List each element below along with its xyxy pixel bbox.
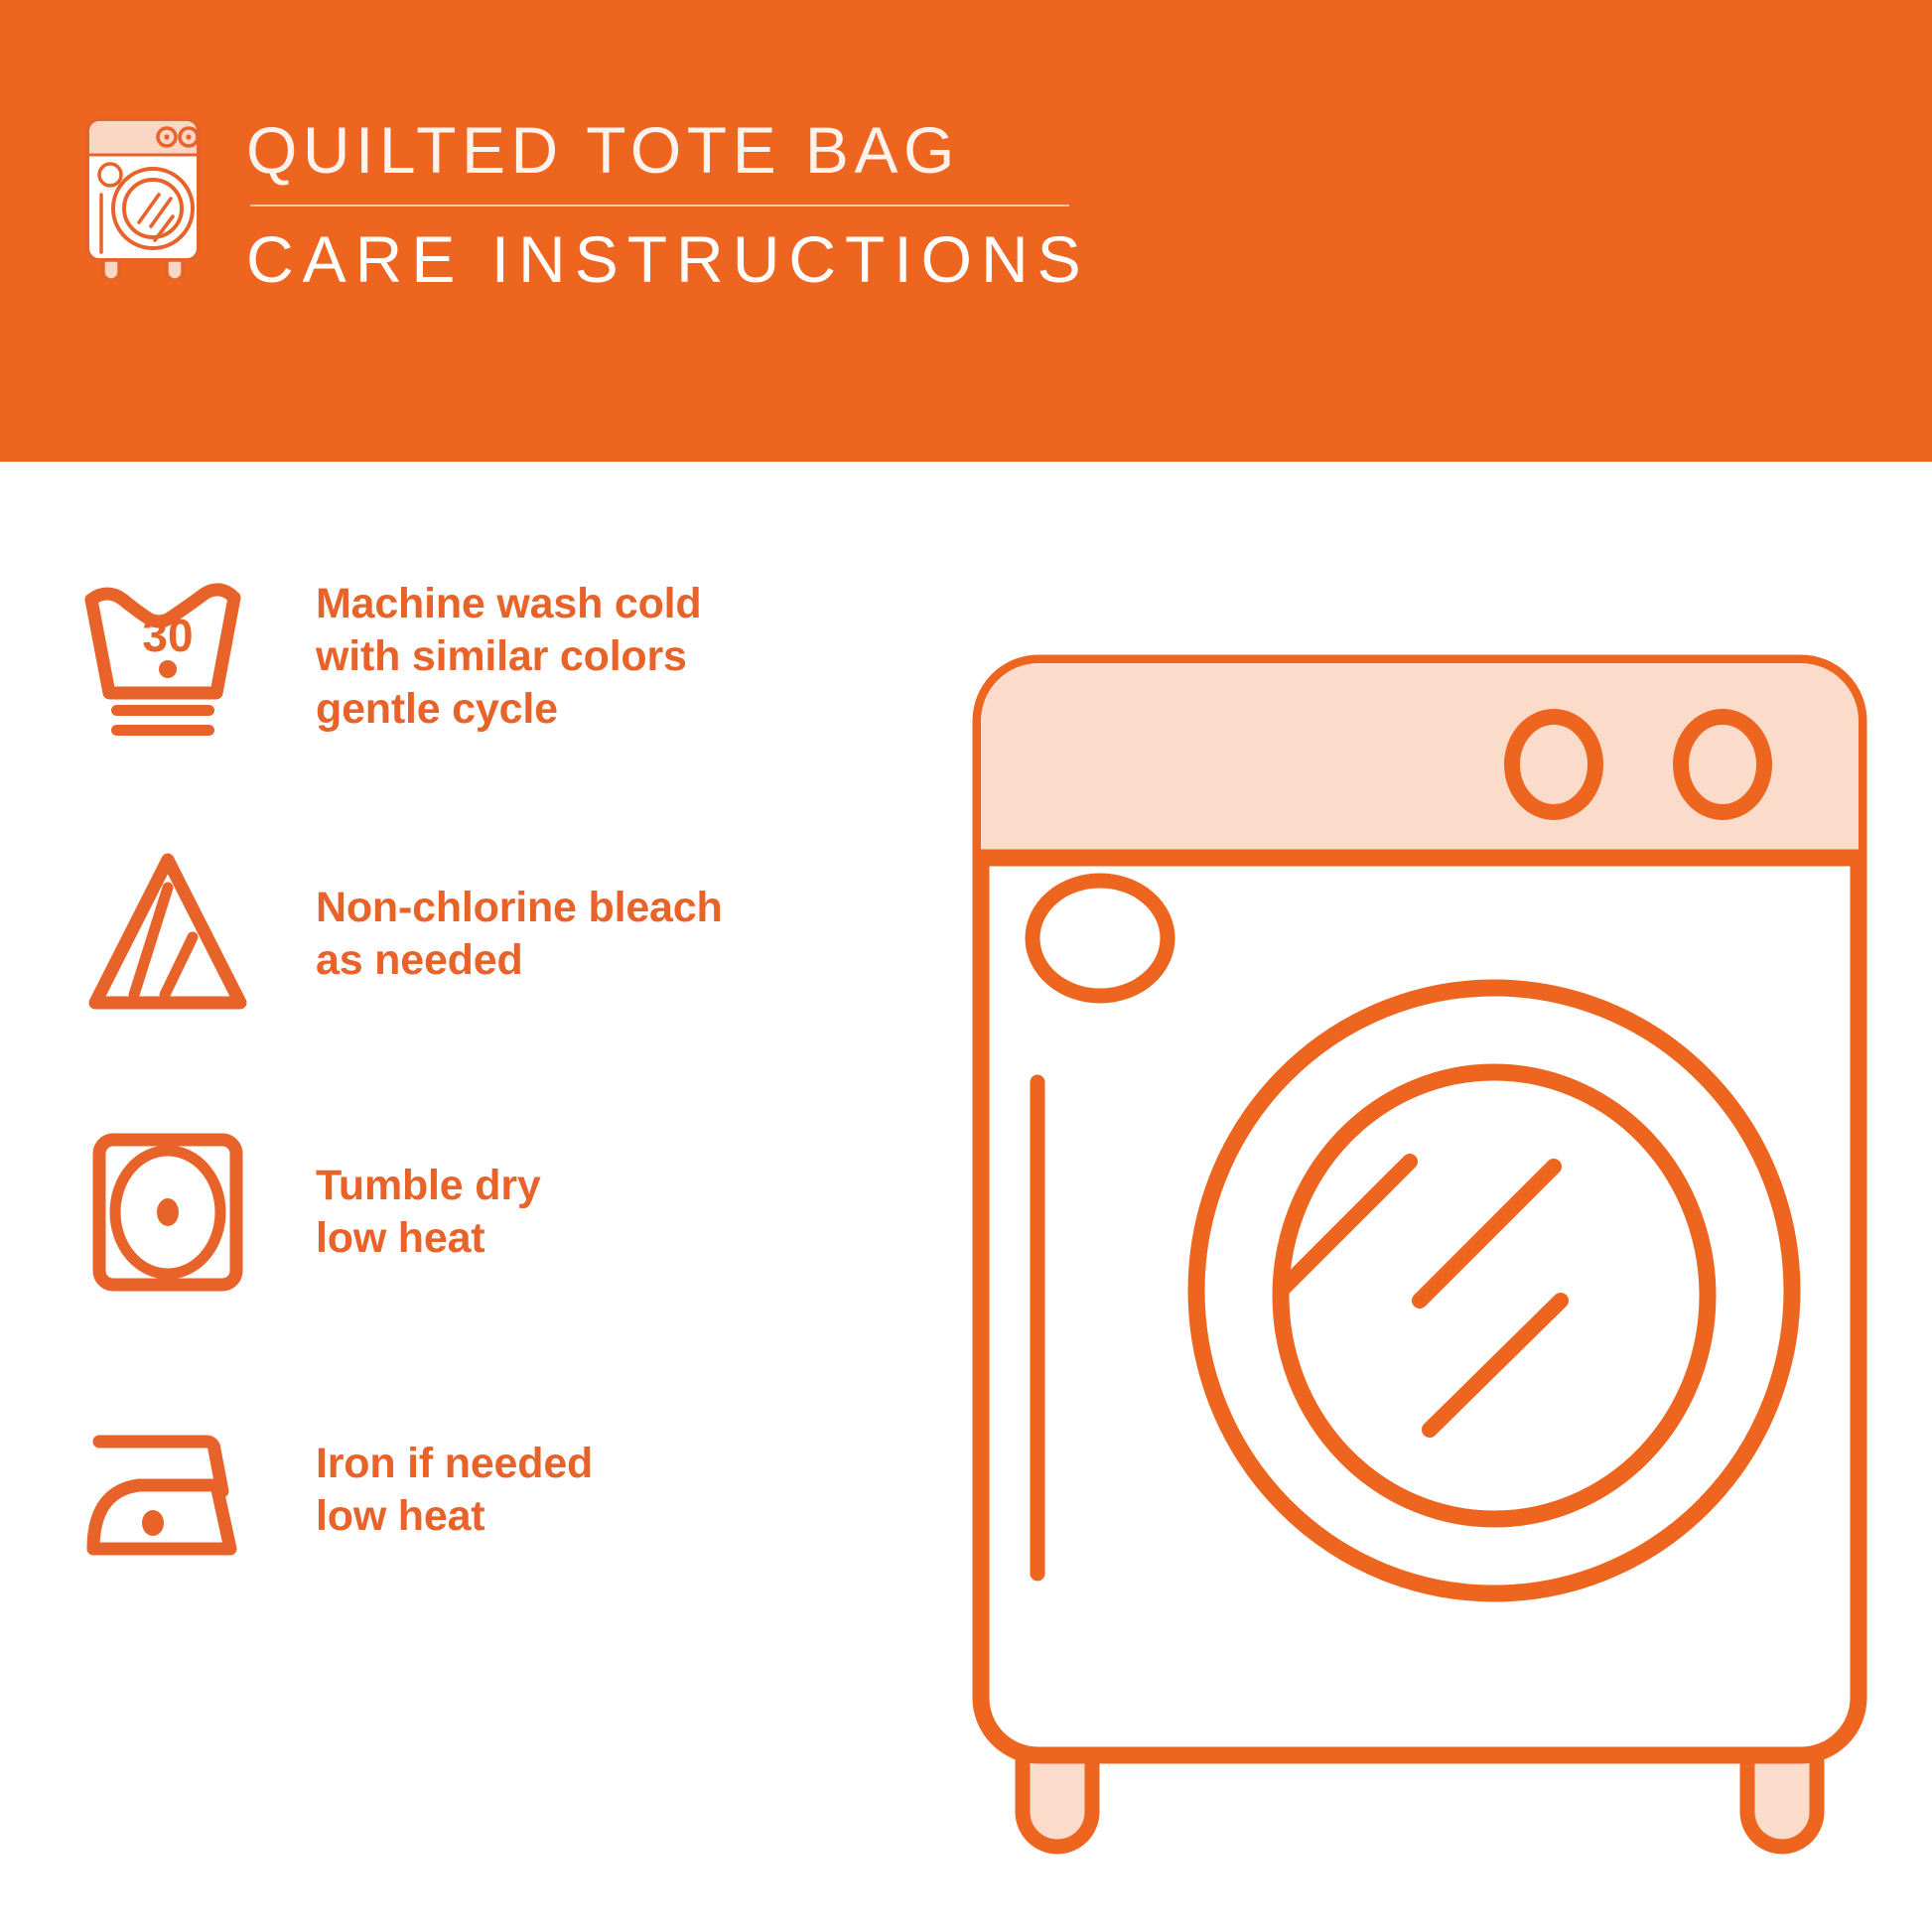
tumble-dry-low-heat-icon — [77, 1122, 258, 1303]
care-line: Iron if needed — [316, 1438, 593, 1490]
page-title: QUILTED TOTE BAG — [246, 111, 1090, 189]
care-item-iron: Iron if needed low heat — [77, 1400, 832, 1581]
care-line: with similar colors — [316, 630, 701, 683]
wash-temperature-label: 30 — [142, 610, 193, 661]
iron-low-heat-icon — [77, 1400, 258, 1581]
care-line: Machine wash cold — [316, 578, 701, 630]
washing-machine-illustration — [953, 616, 1886, 1857]
care-item-label: Machine wash cold with similar colors ge… — [316, 578, 701, 736]
leg-left — [1023, 1752, 1092, 1847]
page-subtitle: CARE INSTRUCTIONS — [246, 220, 1090, 298]
header-title-block: QUILTED TOTE BAG CARE INSTRUCTIONS — [246, 107, 1090, 298]
care-item-bleach: Non-chlorine bleach as needed — [77, 844, 832, 1025]
care-line: Tumble dry — [316, 1160, 541, 1212]
care-item-label: Tumble dry low heat — [316, 1160, 541, 1265]
washing-machine-icon — [77, 107, 208, 282]
care-line: Non-chlorine bleach — [316, 882, 723, 934]
care-line: as needed — [316, 934, 723, 987]
non-chlorine-bleach-triangle-icon — [77, 844, 258, 1025]
leg-right — [1747, 1752, 1817, 1847]
care-line: low heat — [316, 1490, 593, 1543]
care-line: low heat — [316, 1212, 541, 1265]
header-band: QUILTED TOTE BAG CARE INSTRUCTIONS — [0, 0, 1932, 462]
care-item-machine-wash: 30 Machine wash cold with similar colors… — [77, 566, 832, 747]
header-content: QUILTED TOTE BAG CARE INSTRUCTIONS — [77, 107, 1090, 298]
care-item-label: Iron if needed low heat — [316, 1438, 593, 1543]
knob-left — [1512, 717, 1595, 812]
care-instructions-list: 30 Machine wash cold with similar colors… — [0, 462, 874, 1932]
knob-right — [1681, 717, 1764, 812]
care-item-tumble-dry: Tumble dry low heat — [77, 1122, 832, 1303]
care-line: gentle cycle — [316, 683, 701, 736]
title-divider — [250, 205, 1069, 207]
care-item-label: Non-chlorine bleach as needed — [316, 882, 723, 987]
wash-tub-30-gentle-icon: 30 — [77, 566, 258, 747]
